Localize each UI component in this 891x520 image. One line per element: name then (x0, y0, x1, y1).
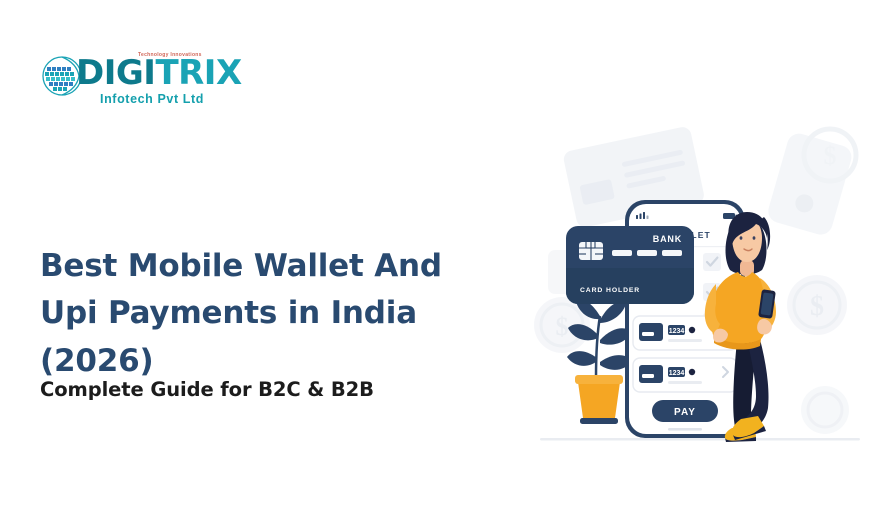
logo-subtitle: Infotech Pvt Ltd (100, 92, 204, 106)
checklist-row (703, 253, 721, 271)
svg-text:$: $ (810, 291, 824, 322)
bank-card-holder-label: CARD HOLDER (580, 287, 640, 294)
card-badge: 1234 (668, 367, 685, 377)
svg-text:$: $ (556, 312, 569, 341)
logo-wordmark-part1: DIGI (76, 53, 155, 93)
page-subtitle: Complete Guide for B2C & B2B (40, 378, 470, 401)
bank-card: BANK CARD HOLDER (566, 226, 694, 304)
hero-banner: DIGITRIX Technology Innovations Infotech… (0, 0, 891, 520)
page-title-line-1: Best Mobile Wallet And (40, 248, 442, 284)
page-title-line-3: (2026) (40, 343, 153, 379)
page-title-line-2: Upi Payments in India (40, 295, 417, 331)
svg-text:$: $ (824, 141, 837, 170)
mobile-wallet-payment-illustration: $ $ $ (520, 120, 880, 460)
svg-text:1234: 1234 (669, 370, 685, 377)
floor-line (540, 438, 860, 441)
credit-card-icon (639, 365, 663, 383)
home-indicator (668, 428, 702, 431)
svg-text:1234: 1234 (669, 328, 685, 335)
saved-card-row: 1234 (633, 358, 737, 392)
plant-pot (578, 382, 620, 418)
card-badge: 1234 (668, 325, 685, 335)
page-title: Best Mobile Wallet And Upi Payments in I… (40, 243, 470, 385)
pay-button-label: PAY (674, 407, 696, 418)
status-dot (689, 327, 695, 333)
logo-tagline: Technology Innovations (138, 52, 202, 58)
credit-card-icon (639, 323, 663, 341)
logo-wordmark-part2: TRIX (155, 53, 241, 93)
brand-logo[interactable]: DIGITRIX Technology Innovations Infotech… (40, 48, 200, 110)
logo-wordmark: DIGITRIX (76, 56, 242, 90)
status-dot (689, 369, 695, 375)
bank-card-bank-label: BANK (653, 234, 682, 244)
card-chip-icon (579, 242, 603, 260)
pay-button: PAY (652, 400, 718, 422)
